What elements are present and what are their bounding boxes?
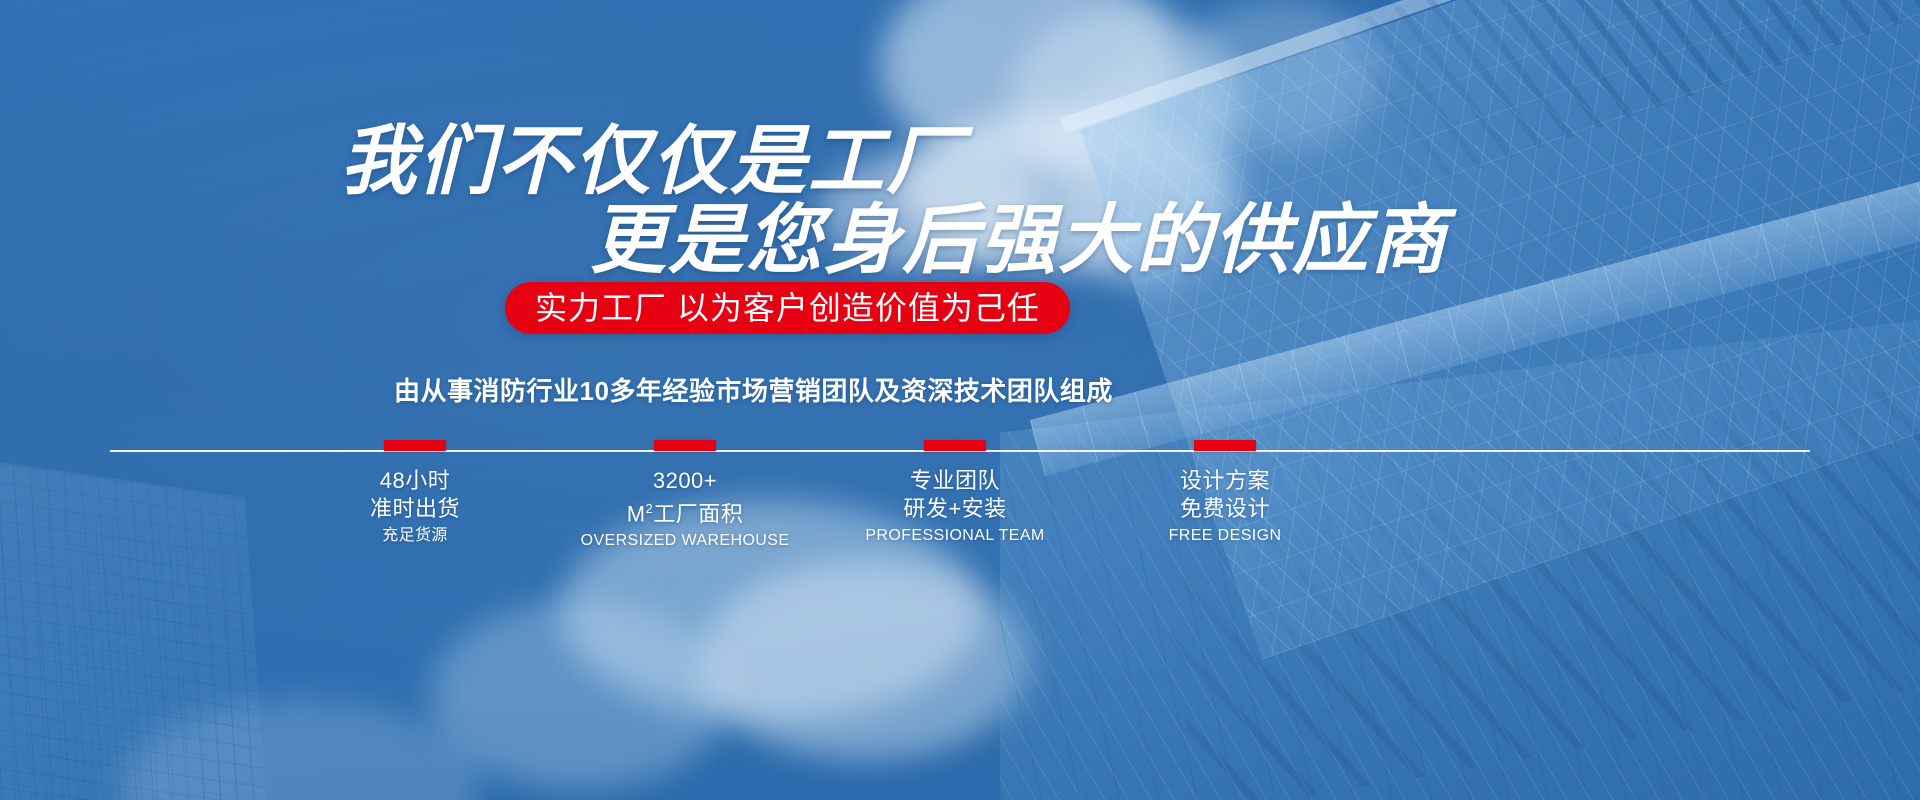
feature-line2-prefix: M [627,501,646,526]
feature-list: 48小时 准时出货 充足货源 3200+ M2工厂面积 OVERSIZED WA… [290,440,1350,552]
slogan-badge: 实力工厂 以为客户创造价值为己任 [505,282,1070,334]
feature-line1: 48小时 [290,467,540,495]
red-accent-bar [654,440,716,451]
banner-content: 我们不仅仅是工厂 更是您身后强大的供应商 实力工厂 以为客户创造价值为己任 由从… [0,0,1920,800]
feature-item-design: 设计方案 免费设计 FREE DESIGN [1100,440,1350,552]
feature-line2: 准时出货 [290,495,540,523]
feature-subtext: 充足货源 [290,525,540,547]
feature-subtext: OVERSIZED WAREHOUSE [560,530,810,552]
headline-primary: 我们不仅仅是工厂 [340,124,964,200]
feature-line2: 研发+安装 [830,495,1080,523]
feature-line2: M2工厂面积 [560,495,810,528]
red-accent-bar [1194,440,1256,451]
red-accent-bar [924,440,986,451]
hero-banner: 我们不仅仅是工厂 更是您身后强大的供应商 实力工厂 以为客户创造价值为己任 由从… [0,0,1920,800]
feature-line1: 3200+ [560,467,810,495]
feature-subtext: FREE DESIGN [1100,525,1350,547]
headline-secondary: 更是您身后强大的供应商 [590,203,1448,279]
feature-item-warehouse: 3200+ M2工厂面积 OVERSIZED WAREHOUSE [560,440,810,552]
feature-item-shipping: 48小时 准时出货 充足货源 [290,440,540,552]
feature-subtext: PROFESSIONAL TEAM [830,525,1080,547]
feature-line2: 免费设计 [1100,495,1350,523]
banner-subtitle: 由从事消防行业10多年经验市场营销团队及资深技术团队组成 [394,371,1524,408]
red-accent-bar [384,440,446,451]
feature-item-team: 专业团队 研发+安装 PROFESSIONAL TEAM [830,440,1080,552]
feature-line2-suffix: 工厂面积 [653,501,743,526]
feature-line1: 专业团队 [830,467,1080,495]
feature-line1: 设计方案 [1100,467,1350,495]
